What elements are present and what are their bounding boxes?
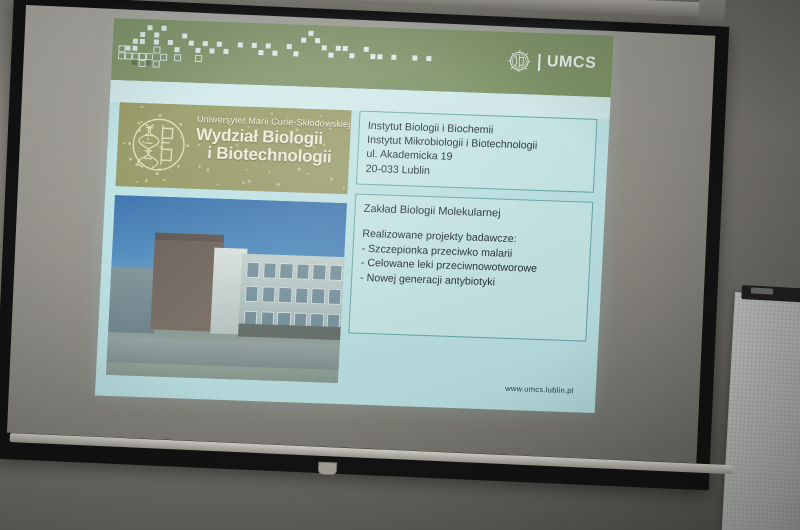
dna-microscope-emblem-icon (124, 111, 193, 179)
address-box: Instytut Biologii i Biochemii Instytut M… (356, 111, 598, 193)
faculty-building-photo (106, 195, 347, 383)
slide-right-column: Instytut Biologii i Biochemii Instytut M… (348, 111, 597, 342)
room-scene: UMCS (0, 0, 800, 530)
slide-left-column: Uniwersytet Marii Curie-Skłodowskiej Wyd… (106, 102, 352, 383)
faculty-title: Wydział Biologii i Biotechnologii (195, 126, 347, 166)
photo-haze (106, 195, 347, 383)
faculty-text-group: Uniwersytet Marii Curie-Skłodowskiej Wyd… (195, 114, 347, 166)
screen-pull-tab[interactable] (318, 462, 338, 476)
slide-footer-url: www.umcs.lublin.pl (505, 384, 574, 395)
umcs-seal-icon (506, 48, 533, 75)
department-box: Zakład Biologii Molekularnej Realizowane… (348, 193, 593, 341)
umcs-separator (538, 53, 541, 70)
umcs-wordmark: UMCS (546, 53, 596, 73)
faculty-banner: Uniwersytet Marii Curie-Skłodowskiej Wyd… (115, 102, 351, 194)
projected-slide: UMCS (95, 18, 614, 413)
umcs-logo: UMCS (506, 48, 597, 77)
projection-screen: UMCS (0, 0, 800, 530)
department-heading: Zakład Biologii Molekularnej (363, 202, 584, 224)
